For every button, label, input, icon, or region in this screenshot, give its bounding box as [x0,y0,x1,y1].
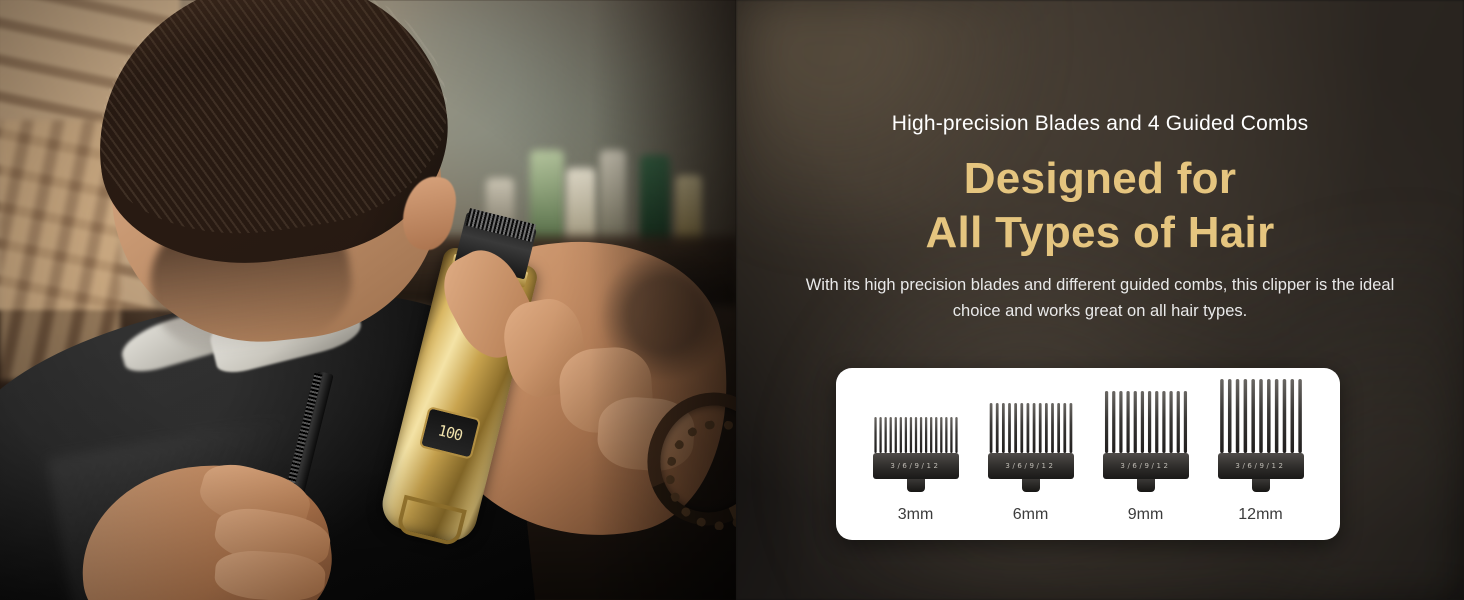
clipper-display-value: 100 [436,421,464,444]
comb-base-size-markings: 3/6/9/12 [1120,462,1170,470]
comb-attachment-graphic: 3/6/9/12 [1103,391,1189,492]
marketing-copy-panel: High-precision Blades and 4 Guided Combs… [736,0,1464,600]
comb-attachment-graphic: 3/6/9/12 [1218,379,1304,492]
subtext: With its high precision blades and diffe… [798,272,1402,325]
comb-clip-tab [1022,479,1040,492]
comb-pins-icon [1103,391,1189,453]
comb-pins-icon [988,403,1074,453]
guided-combs-row: 3/6/9/123mm3/6/9/126mm3/6/9/129mm3/6/9/1… [836,368,1340,540]
guided-combs-card: 3/6/9/123mm3/6/9/126mm3/6/9/129mm3/6/9/1… [836,368,1340,540]
comb-attachment-item: 3/6/9/129mm [1092,391,1200,524]
headline: Designed for All Types of Hair [736,152,1464,259]
comb-attachment-graphic: 3/6/9/12 [988,403,1074,492]
eyebrow-text: High-precision Blades and 4 Guided Combs [736,112,1464,136]
comb-base-size-markings: 3/6/9/12 [890,462,940,470]
headline-line-1: Designed for [964,154,1237,203]
comb-base-size-markings: 3/6/9/12 [1235,462,1285,470]
panel-content: High-precision Blades and 4 Guided Combs… [736,0,1464,600]
headline-line-2: All Types of Hair [736,206,1464,260]
comb-size-label: 9mm [1128,506,1164,524]
comb-base: 3/6/9/12 [988,453,1074,479]
blurred-bottle-icon [600,150,626,250]
comb-size-label: 3mm [898,506,934,524]
comb-base: 3/6/9/12 [1218,453,1304,479]
comb-size-label: 6mm [1013,506,1049,524]
comb-attachment-item: 3/6/9/1212mm [1207,379,1315,524]
comb-base: 3/6/9/12 [1103,453,1189,479]
product-feature-banner: 100 High-precision Blades and 4 Guided C… [0,0,1464,600]
comb-clip-tab [907,479,925,492]
comb-attachment-item: 3/6/9/126mm [977,403,1085,524]
comb-attachment-graphic: 3/6/9/12 [873,417,959,492]
barber-photo: 100 [0,0,736,600]
comb-attachment-item: 3/6/9/123mm [862,417,970,524]
comb-clip-tab [1137,479,1155,492]
comb-base: 3/6/9/12 [873,453,959,479]
comb-clip-tab [1252,479,1270,492]
comb-base-size-markings: 3/6/9/12 [1005,462,1055,470]
comb-size-label: 12mm [1238,506,1282,524]
comb-pins-icon [1218,379,1304,453]
comb-pins-icon [873,417,959,453]
